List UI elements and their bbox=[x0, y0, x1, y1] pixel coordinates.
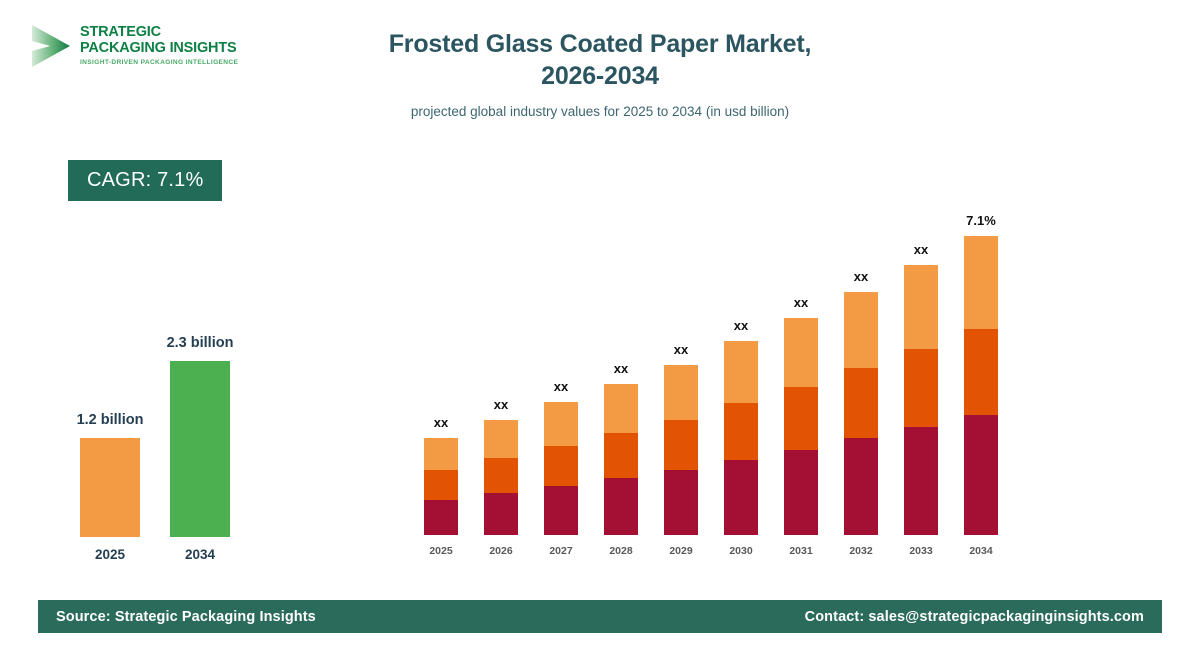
stacked-bar-group: xx2032 bbox=[844, 292, 878, 535]
bar-segment-bottom bbox=[724, 460, 758, 535]
stacked-bar-value-label: xx bbox=[826, 269, 896, 284]
bar-segment-bottom bbox=[424, 500, 458, 535]
bar-segment-bottom bbox=[544, 486, 578, 535]
stacked-bar-value-label: xx bbox=[406, 415, 476, 430]
mini-bar-group: 2.3 billion2034 bbox=[170, 361, 230, 537]
stacked-bar-year-label: 2030 bbox=[724, 545, 758, 557]
mini-bar-year-label: 2025 bbox=[80, 547, 140, 562]
stacked-bar-group: xx2030 bbox=[724, 341, 758, 535]
stacked-bar bbox=[964, 236, 998, 535]
stacked-bar-value-label: xx bbox=[466, 397, 536, 412]
chevron-right-icon bbox=[28, 21, 74, 71]
bar-segment-top bbox=[844, 292, 878, 368]
mini-bar-group: 1.2 billion2025 bbox=[80, 438, 140, 537]
bar-segment-middle bbox=[904, 349, 938, 427]
bar-segment-bottom bbox=[784, 450, 818, 535]
endpoint-comparison-chart: 1.2 billion20252.3 billion2034 bbox=[55, 320, 285, 565]
stacked-bar bbox=[724, 341, 758, 535]
bar-segment-bottom bbox=[904, 427, 938, 535]
mini-bar bbox=[80, 438, 140, 537]
stacked-bar-year-label: 2026 bbox=[484, 545, 518, 557]
stacked-bar-year-label: 2029 bbox=[664, 545, 698, 557]
bar-segment-middle bbox=[664, 420, 698, 470]
logo-tagline: INSIGHT-DRIVEN PACKAGING INTELLIGENCE bbox=[80, 60, 238, 67]
brand-logo: STRATEGIC PACKAGING INSIGHTS INSIGHT-DRI… bbox=[28, 16, 248, 76]
bar-segment-bottom bbox=[484, 493, 518, 535]
stacked-bar-value-label: xx bbox=[526, 379, 596, 394]
logo-line-1: STRATEGIC bbox=[80, 25, 238, 40]
stacked-bar-group: xx2033 bbox=[904, 265, 938, 535]
page-title-line-1: Frosted Glass Coated Paper Market, bbox=[300, 28, 900, 60]
bar-segment-top bbox=[904, 265, 938, 349]
stacked-bar-group: xx2025 bbox=[424, 438, 458, 535]
stacked-bar-value-label: xx bbox=[766, 295, 836, 310]
stacked-bar bbox=[904, 265, 938, 535]
bar-segment-bottom bbox=[964, 415, 998, 535]
bar-segment-middle bbox=[784, 387, 818, 450]
bar-segment-bottom bbox=[604, 478, 638, 535]
mini-bar-value-label: 2.3 billion bbox=[120, 335, 280, 351]
logo-wordmark: STRATEGIC PACKAGING INSIGHTS INSIGHT-DRI… bbox=[80, 25, 238, 67]
footer-source: Source: Strategic Packaging Insights bbox=[56, 609, 316, 625]
bar-segment-top bbox=[724, 341, 758, 403]
stacked-bar bbox=[424, 438, 458, 535]
page-title-line-2: 2026-2034 bbox=[300, 60, 900, 92]
stacked-bar-year-label: 2032 bbox=[844, 545, 878, 557]
stacked-bar-value-label: xx bbox=[646, 342, 716, 357]
stacked-bar-year-label: 2025 bbox=[424, 545, 458, 557]
mini-bar bbox=[170, 361, 230, 537]
bar-segment-middle bbox=[844, 368, 878, 438]
bar-segment-top bbox=[484, 420, 518, 458]
stacked-bar-group: 7.1%2034 bbox=[964, 236, 998, 535]
stacked-bar-group: xx2027 bbox=[544, 402, 578, 535]
stacked-bar-value-label: xx bbox=[586, 361, 656, 376]
stacked-bar-value-label: xx bbox=[886, 242, 956, 257]
bar-segment-top bbox=[424, 438, 458, 470]
stacked-bar bbox=[484, 420, 518, 535]
stacked-bar-year-label: 2031 bbox=[784, 545, 818, 557]
bar-segment-top bbox=[544, 402, 578, 446]
bar-segment-middle bbox=[724, 403, 758, 460]
bar-segment-top bbox=[664, 365, 698, 420]
mini-bar-year-label: 2034 bbox=[170, 547, 230, 562]
stacked-bar-value-label: 7.1% bbox=[946, 213, 1016, 228]
bar-segment-middle bbox=[544, 446, 578, 486]
bar-segment-bottom bbox=[844, 438, 878, 535]
stacked-bar bbox=[784, 318, 818, 535]
page-subtitle: projected global industry values for 202… bbox=[300, 104, 900, 119]
stacked-bar-group: xx2031 bbox=[784, 318, 818, 535]
bar-segment-bottom bbox=[664, 470, 698, 535]
bar-segment-middle bbox=[964, 329, 998, 415]
forecast-stacked-chart: xx2025xx2026xx2027xx2028xx2029xx2030xx20… bbox=[404, 200, 1024, 560]
logo-line-2: PACKAGING INSIGHTS bbox=[80, 41, 238, 56]
stacked-bar bbox=[544, 402, 578, 535]
stacked-bar bbox=[604, 384, 638, 535]
stacked-bar-group: xx2029 bbox=[664, 365, 698, 535]
bar-segment-middle bbox=[604, 433, 638, 478]
stacked-bar-group: xx2026 bbox=[484, 420, 518, 535]
bar-segment-top bbox=[964, 236, 998, 329]
stacked-bar-year-label: 2033 bbox=[904, 545, 938, 557]
stacked-bar-year-label: 2028 bbox=[604, 545, 638, 557]
bar-segment-middle bbox=[484, 458, 518, 493]
footer-bar: Source: Strategic Packaging Insights Con… bbox=[38, 600, 1162, 633]
stacked-bar-year-label: 2034 bbox=[964, 545, 998, 557]
title-block: Frosted Glass Coated Paper Market, 2026-… bbox=[300, 28, 900, 119]
cagr-badge: CAGR: 7.1% bbox=[68, 160, 222, 201]
page-title: Frosted Glass Coated Paper Market, 2026-… bbox=[300, 28, 900, 92]
footer-contact: Contact: sales@strategicpackaginginsight… bbox=[805, 609, 1144, 625]
stacked-bar-group: xx2028 bbox=[604, 384, 638, 535]
stacked-bar-value-label: xx bbox=[706, 318, 776, 333]
mini-bar-value-label: 1.2 billion bbox=[30, 412, 190, 428]
stacked-bar-year-label: 2027 bbox=[544, 545, 578, 557]
stacked-bar bbox=[664, 365, 698, 535]
bar-segment-top bbox=[784, 318, 818, 387]
bar-segment-top bbox=[604, 384, 638, 433]
bar-segment-middle bbox=[424, 470, 458, 500]
stacked-bar bbox=[844, 292, 878, 535]
